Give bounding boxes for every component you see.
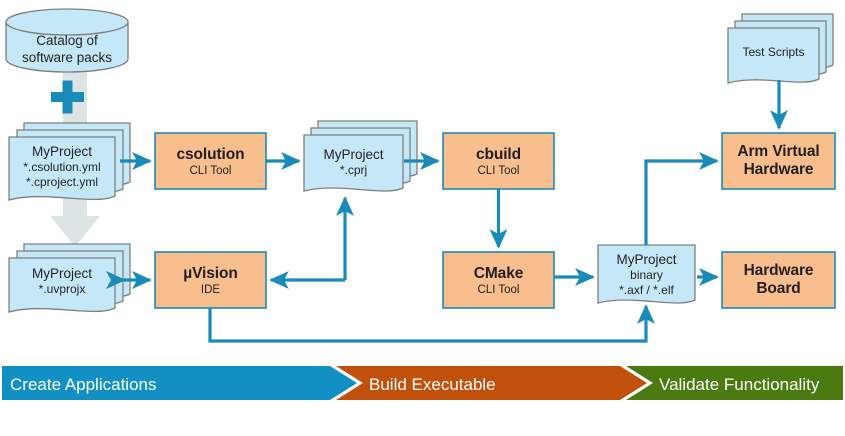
diagram-graphics [0, 0, 845, 436]
project-uvprojx-stack [9, 244, 130, 312]
stage-banner [2, 366, 843, 400]
cmake-box[interactable] [443, 252, 554, 308]
csolution-box[interactable] [155, 133, 266, 189]
banner-stage-validate [626, 366, 843, 400]
binary-document [598, 245, 695, 303]
arm-virtual-hardware-box[interactable] [722, 133, 835, 189]
banner-stage-create [2, 366, 357, 400]
project-yml-stack [9, 123, 130, 200]
uvision-box[interactable] [155, 252, 266, 308]
diagram-canvas: Catalog of software packs MyProject *.cs… [0, 0, 845, 436]
banner-stage-build [336, 366, 647, 400]
arrow-binary-to-avh [646, 161, 717, 245]
cbuild-box[interactable] [443, 133, 554, 189]
catalog-cylinder [6, 9, 128, 72]
hardware-board-box[interactable] [722, 252, 835, 308]
project-cprj-stack [304, 121, 417, 191]
arrow-uvision-to-binary [210, 306, 646, 341]
test-scripts-stack [728, 14, 833, 83]
